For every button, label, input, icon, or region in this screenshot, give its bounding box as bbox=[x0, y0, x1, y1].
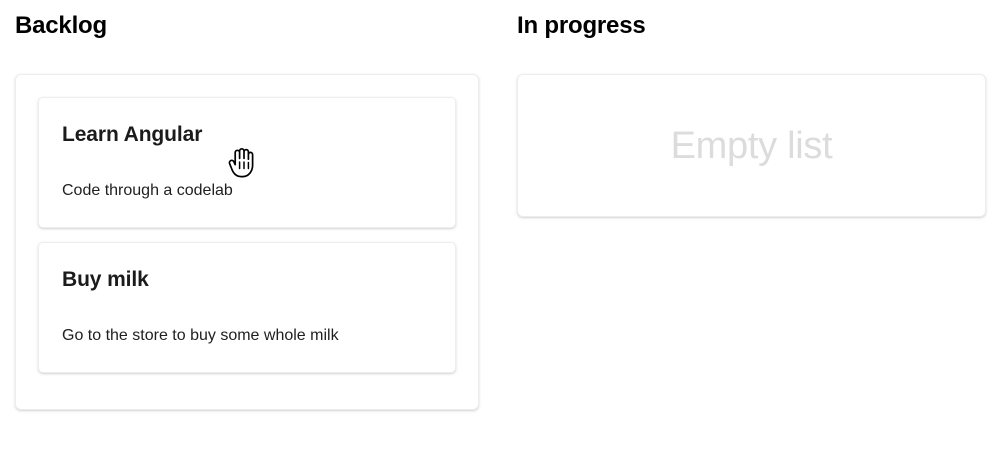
column-title-backlog: Backlog bbox=[15, 0, 481, 40]
drop-list-in-progress[interactable]: Empty list bbox=[517, 74, 986, 217]
kanban-board: Backlog Learn Angular Code through a cod… bbox=[0, 0, 1000, 475]
task-card-description: Code through a codelab bbox=[62, 181, 432, 201]
task-card[interactable]: Learn Angular Code through a codelab bbox=[38, 97, 456, 228]
task-card-title: Buy milk bbox=[62, 267, 432, 292]
column-title-in-progress: In progress bbox=[517, 0, 986, 40]
column-backlog: Backlog bbox=[15, 0, 481, 40]
task-card-title: Learn Angular bbox=[62, 122, 432, 147]
drop-list-backlog[interactable]: Learn Angular Code through a codelab Buy… bbox=[15, 74, 479, 410]
column-in-progress: In progress bbox=[517, 0, 986, 40]
task-card-description: Go to the store to buy some whole milk bbox=[62, 326, 432, 346]
empty-list-label: Empty list bbox=[671, 125, 833, 167]
task-card[interactable]: Buy milk Go to the store to buy some who… bbox=[38, 242, 456, 373]
